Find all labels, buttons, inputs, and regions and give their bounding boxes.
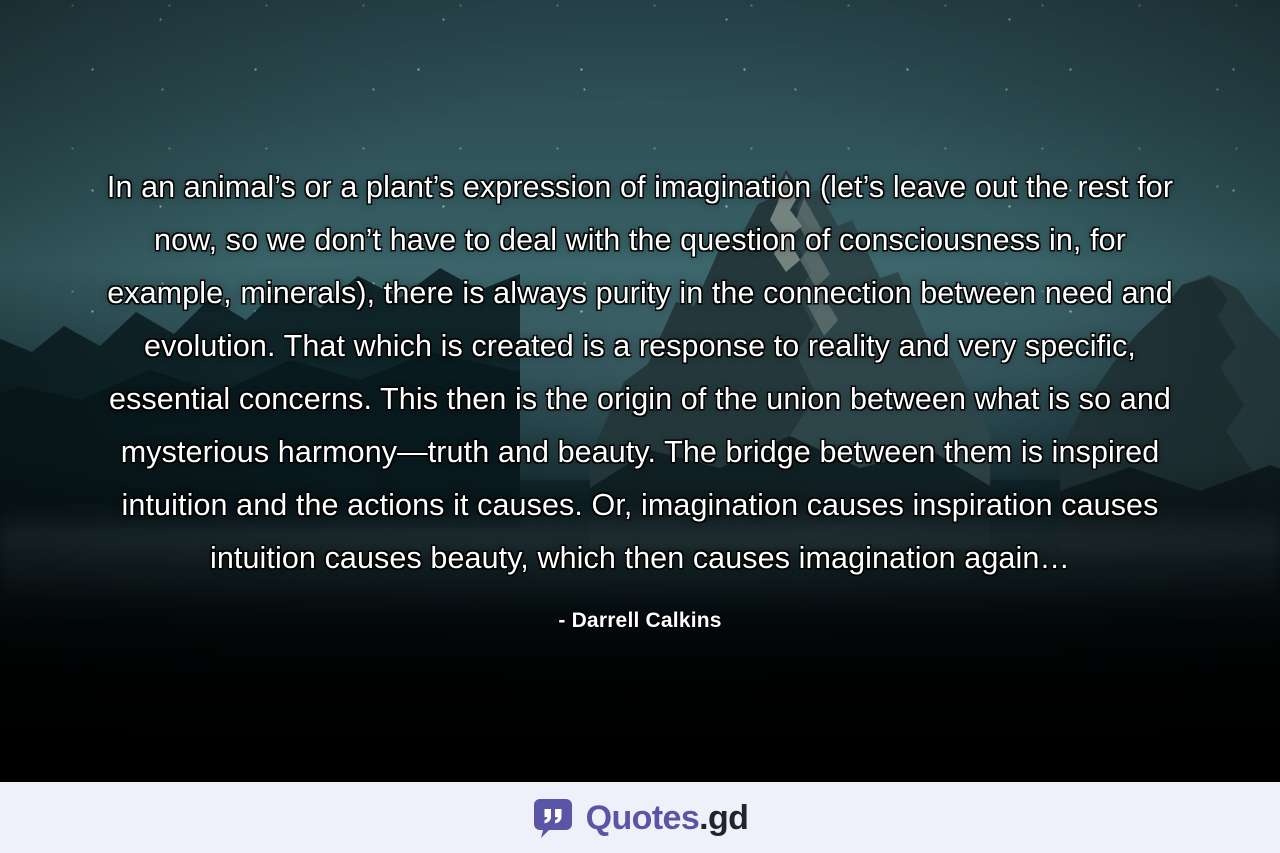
quote-bubble-icon — [532, 797, 574, 839]
quote-text: In an animal’s or a plant’s expression o… — [88, 161, 1192, 585]
quote-container: In an animal’s or a plant’s expression o… — [0, 0, 1280, 782]
quote-image-card: In an animal’s or a plant’s expression o… — [0, 0, 1280, 853]
quote-author: - Darrell Calkins — [558, 609, 721, 633]
brand-tld: .gd — [699, 799, 748, 837]
site-logo[interactable]: Quotes.gd — [532, 797, 749, 839]
site-footer: Quotes.gd — [0, 782, 1280, 853]
brand-wordmark: Quotes.gd — [586, 801, 749, 835]
brand-name: Quotes — [586, 799, 700, 837]
